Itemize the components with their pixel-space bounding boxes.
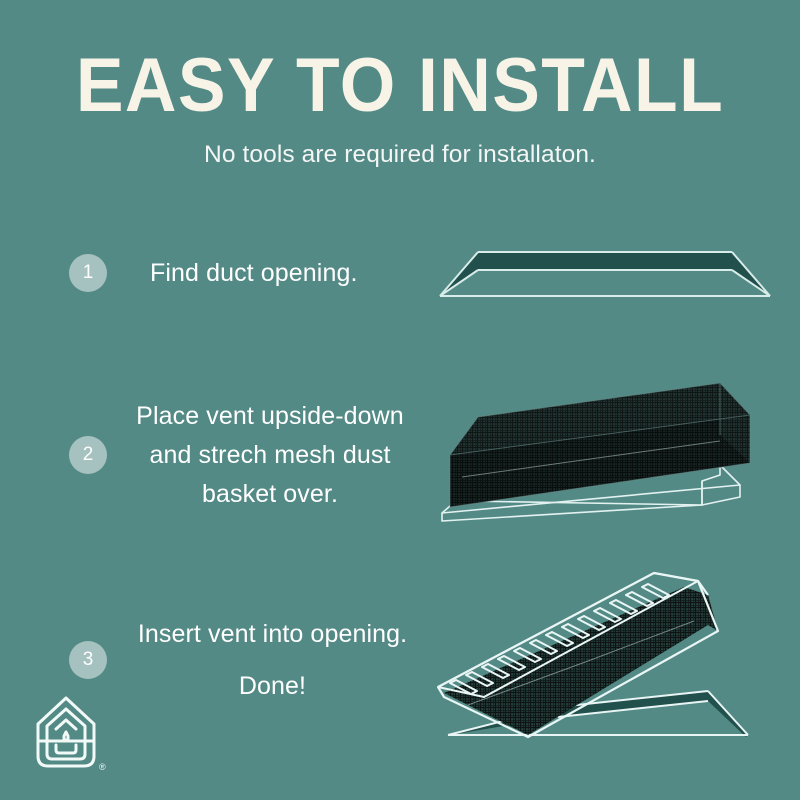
step-2-line-1: Place vent upside-down — [120, 397, 420, 436]
page-subtitle: No tools are required for installaton. — [0, 126, 800, 170]
vent-inserted-illustration — [408, 565, 800, 775]
step-2-text-group: 2 Place vent upside-down and strech mesh… — [0, 397, 430, 514]
step-2-line-3: basket over. — [120, 475, 420, 514]
step-3-line-2: Done! — [120, 660, 425, 712]
step-2-line-2: and strech mesh dust — [120, 436, 420, 475]
mesh-basket-over-vent-illustration — [420, 355, 800, 545]
poster-canvas: EASY TO INSTALL No tools are required fo… — [0, 0, 800, 800]
logo-door-shape — [64, 732, 68, 740]
duct3-right-edge — [708, 691, 748, 735]
header: EASY TO INSTALL No tools are required fo… — [0, 0, 800, 170]
home-brand-logo[interactable]: ® — [32, 692, 110, 778]
step-number-badge-2: 2 — [69, 436, 107, 474]
logo-basket-shape — [56, 745, 76, 753]
logo-trademark: ® — [99, 762, 106, 772]
step-1-text-group: 1 Find duct opening. — [0, 254, 430, 292]
logo-roof-chevron — [56, 720, 76, 729]
page-title: EASY TO INSTALL — [24, 0, 776, 126]
step-1-line-1: Find duct opening. — [150, 254, 358, 292]
duct-back-wall — [478, 252, 732, 270]
logo-house-outlines — [38, 698, 94, 766]
step-2-text: Place vent upside-down and strech mesh d… — [120, 397, 420, 514]
duct-opening-illustration — [420, 228, 790, 328]
step-1-text: Find duct opening. — [150, 254, 358, 292]
step-3-text: Insert vent into opening. Done! — [120, 608, 425, 712]
step-3-line-1: Insert vent into opening. — [120, 608, 425, 660]
step-number-badge-1: 1 — [69, 254, 107, 292]
step-number-badge-3: 3 — [69, 641, 107, 679]
